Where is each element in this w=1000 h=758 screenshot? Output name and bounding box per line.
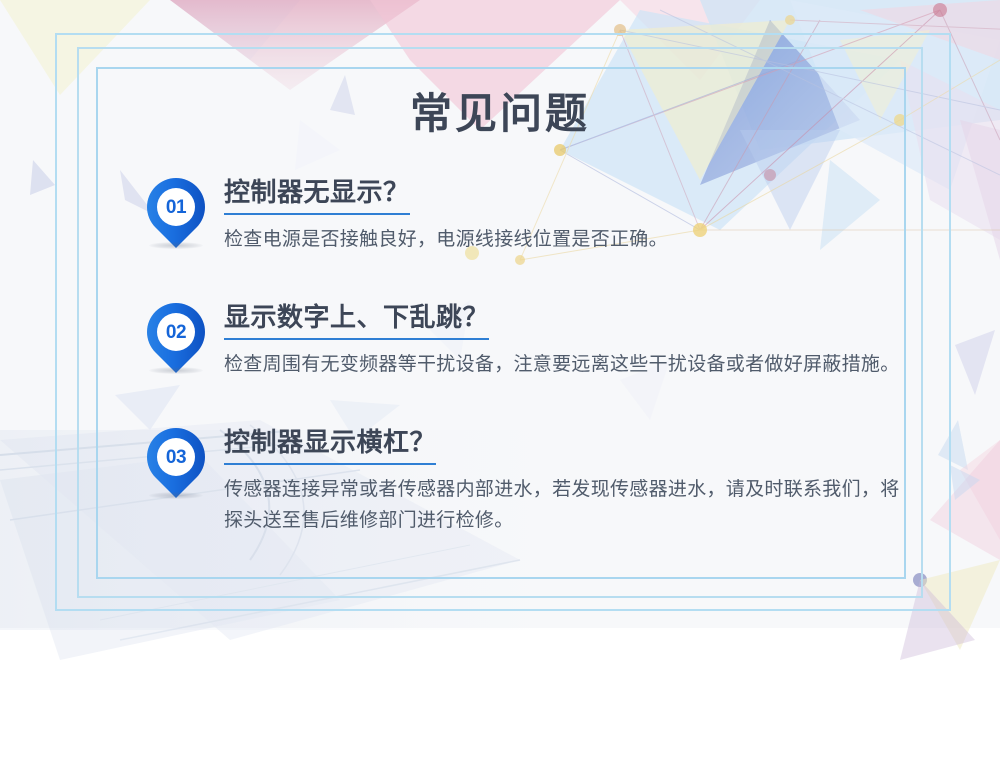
faq-list: 01 控制器无显示？ 检查电源是否接触良好，电源线接线位置是否正确。 02 bbox=[143, 176, 903, 536]
faq-number: 02 bbox=[166, 322, 186, 341]
pin-inner-circle: 02 bbox=[157, 313, 195, 351]
faq-question: 显示数字上、下乱跳？ bbox=[224, 303, 489, 340]
faq-item: 02 显示数字上、下乱跳？ 检查周围有无变频器等干扰设备，注意要远离这些干扰设备… bbox=[143, 301, 903, 381]
pin-marker-icon: 02 bbox=[143, 301, 215, 379]
pin-marker-icon: 01 bbox=[143, 176, 215, 254]
faq-question: 控制器显示横杠？ bbox=[224, 428, 436, 465]
faq-question: 控制器无显示？ bbox=[224, 178, 410, 215]
faq-answer: 传感器连接异常或者传感器内部进水，若发现传感器进水，请及时联系我们，将探头送至售… bbox=[224, 475, 903, 537]
faq-number: 01 bbox=[166, 198, 186, 217]
pin-marker-icon: 03 bbox=[143, 426, 215, 504]
content-area: 常见问题 01 控制器无显示？ 检查电源是否接触良好，电源线接线位置是否正确。 bbox=[0, 0, 1000, 628]
map-pin-icon: 02 bbox=[135, 291, 217, 373]
faq-item: 03 控制器显示横杠？ 传感器连接异常或者传感器内部进水，若发现传感器进水，请及… bbox=[143, 426, 903, 537]
faq-text-block: 显示数字上、下乱跳？ 检查周围有无变频器等干扰设备，注意要远离这些干扰设备或者做… bbox=[215, 301, 903, 381]
faq-page: 常见问题 01 控制器无显示？ 检查电源是否接触良好，电源线接线位置是否正确。 bbox=[0, 0, 1000, 758]
map-pin-icon: 03 bbox=[135, 416, 217, 498]
pin-inner-circle: 03 bbox=[157, 438, 195, 476]
pin-shadow bbox=[149, 242, 203, 249]
faq-item: 01 控制器无显示？ 检查电源是否接触良好，电源线接线位置是否正确。 bbox=[143, 176, 903, 256]
map-pin-icon: 01 bbox=[135, 166, 217, 248]
faq-text-block: 控制器显示横杠？ 传感器连接异常或者传感器内部进水，若发现传感器进水，请及时联系… bbox=[215, 426, 903, 537]
faq-number: 03 bbox=[166, 447, 186, 466]
pin-shadow bbox=[149, 367, 203, 374]
faq-text-block: 控制器无显示？ 检查电源是否接触良好，电源线接线位置是否正确。 bbox=[215, 176, 903, 256]
pin-inner-circle: 01 bbox=[157, 188, 195, 226]
faq-answer: 检查电源是否接触良好，电源线接线位置是否正确。 bbox=[224, 225, 903, 256]
page-title: 常见问题 bbox=[0, 93, 1000, 135]
faq-answer: 检查周围有无变频器等干扰设备，注意要远离这些干扰设备或者做好屏蔽措施。 bbox=[224, 350, 903, 381]
pin-shadow bbox=[149, 492, 203, 499]
